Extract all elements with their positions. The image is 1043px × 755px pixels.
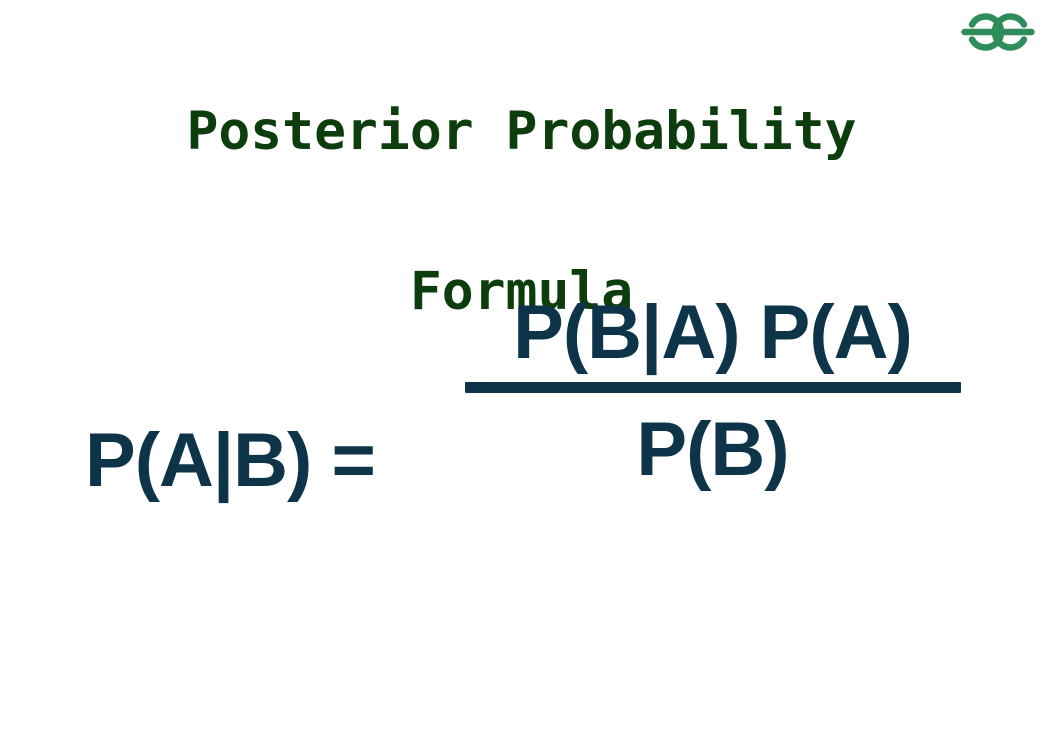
formula-block: P(A|B) = P(B|A) P(A) P(B) — [0, 290, 1043, 570]
slide-canvas: Posterior Probability Formula P(A|B) = P… — [0, 0, 1043, 755]
fraction-bar — [465, 382, 961, 393]
formula-denominator: P(B) — [445, 393, 980, 493]
formula-numerator: P(B|A) P(A) — [445, 290, 980, 382]
page-title-line-1: Posterior Probability — [0, 92, 1043, 172]
geeksforgeeks-logo-icon — [957, 8, 1039, 56]
formula-left-hand-side: P(A|B) = — [85, 423, 375, 499]
formula-fraction: P(B|A) P(A) P(B) — [445, 290, 980, 493]
